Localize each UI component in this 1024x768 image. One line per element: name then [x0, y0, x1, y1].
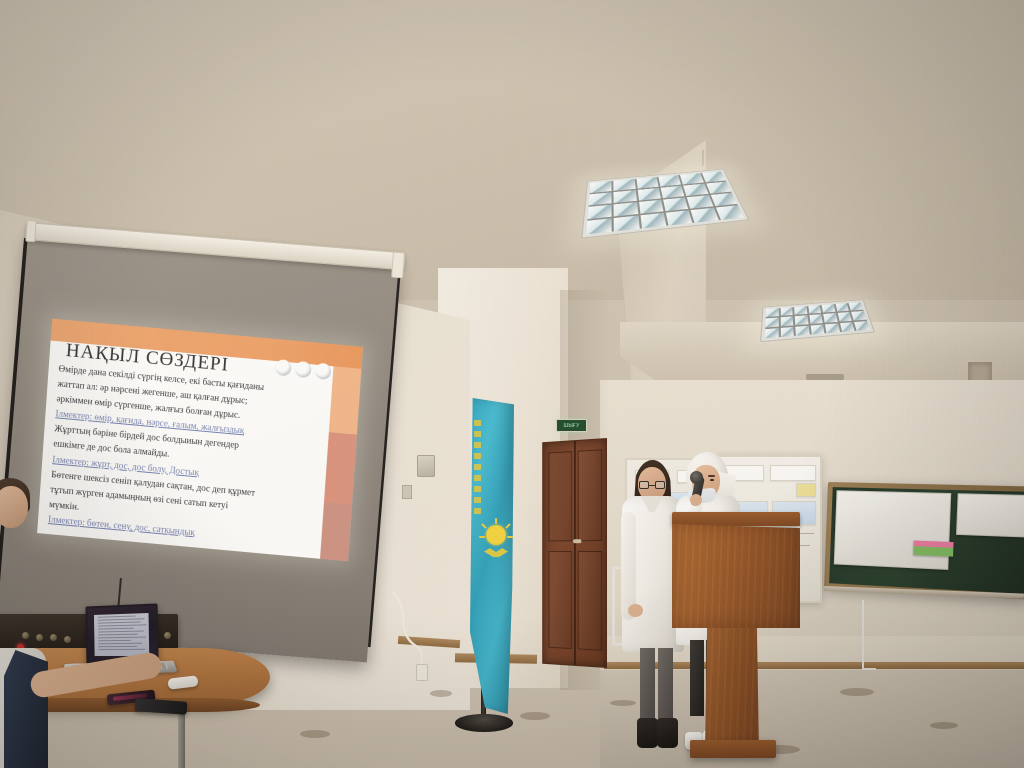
- microphone-head-icon: [690, 471, 703, 484]
- projector-screen: НАҚЫЛ СӨЗДЕРІ Өмірде дана секілді сүргің…: [0, 234, 399, 663]
- board-paper-small: [956, 493, 1024, 537]
- wooden-podium: [672, 524, 800, 628]
- desk-leg: [178, 706, 185, 768]
- audio-knob[interactable]: [22, 632, 29, 639]
- audio-knob[interactable]: [36, 634, 43, 641]
- chalkboard-surface: [829, 487, 1024, 594]
- podium-column: [705, 624, 759, 750]
- boot: [657, 718, 678, 748]
- flag-ornament: [474, 420, 481, 516]
- glasses-icon: [639, 481, 665, 489]
- eyebrow: [708, 475, 715, 477]
- audio-knob[interactable]: [64, 636, 71, 643]
- double-door[interactable]: [542, 438, 607, 668]
- slide-side-block: [324, 432, 357, 504]
- wall-outlet: [416, 664, 428, 681]
- slide-side-block: [329, 366, 361, 434]
- projected-slide: НАҚЫЛ СӨЗДЕРІ Өмірде дана секілді сүргің…: [37, 319, 363, 562]
- info-chip-highlight: [796, 483, 816, 497]
- light-hanger: [702, 150, 704, 166]
- screen-bracket: [391, 252, 405, 279]
- board-paper-large: [834, 490, 952, 570]
- board-sticker: [913, 540, 953, 556]
- exit-sign: ШЫҒУ: [556, 419, 587, 432]
- wall-sensor-box: [417, 455, 435, 477]
- louver-grid: [765, 302, 870, 338]
- wall-bracket: [862, 600, 876, 670]
- chalkboard: [824, 482, 1024, 600]
- leg: [640, 648, 655, 722]
- classroom-photo: ШЫҒУ НАҚЫЛ СӨЗДЕРІ Өмірде дана секілді с…: [0, 0, 1024, 768]
- hand: [690, 494, 702, 506]
- operator-vest: [4, 650, 48, 768]
- info-chip: [770, 465, 816, 481]
- hand: [628, 604, 643, 617]
- podium-base: [690, 740, 776, 758]
- flag-stand-base: [455, 714, 513, 732]
- door-handle-icon[interactable]: [573, 540, 581, 544]
- boot: [637, 718, 658, 748]
- document-window: [94, 613, 149, 656]
- audio-knob[interactable]: [50, 634, 57, 641]
- slide-body: Өмірде дана секілді сүргің келсе, екі ба…: [48, 361, 331, 551]
- leg: [658, 648, 673, 722]
- screen-bracket: [25, 220, 37, 243]
- slide-side-block: [320, 502, 352, 561]
- leg: [690, 640, 704, 716]
- audio-knob[interactable]: [164, 632, 171, 639]
- exit-sign-label: ШЫҒУ: [563, 423, 579, 429]
- wall-switch[interactable]: [402, 485, 412, 499]
- flag-sun-icon: [486, 525, 506, 545]
- podium-top: [672, 512, 800, 526]
